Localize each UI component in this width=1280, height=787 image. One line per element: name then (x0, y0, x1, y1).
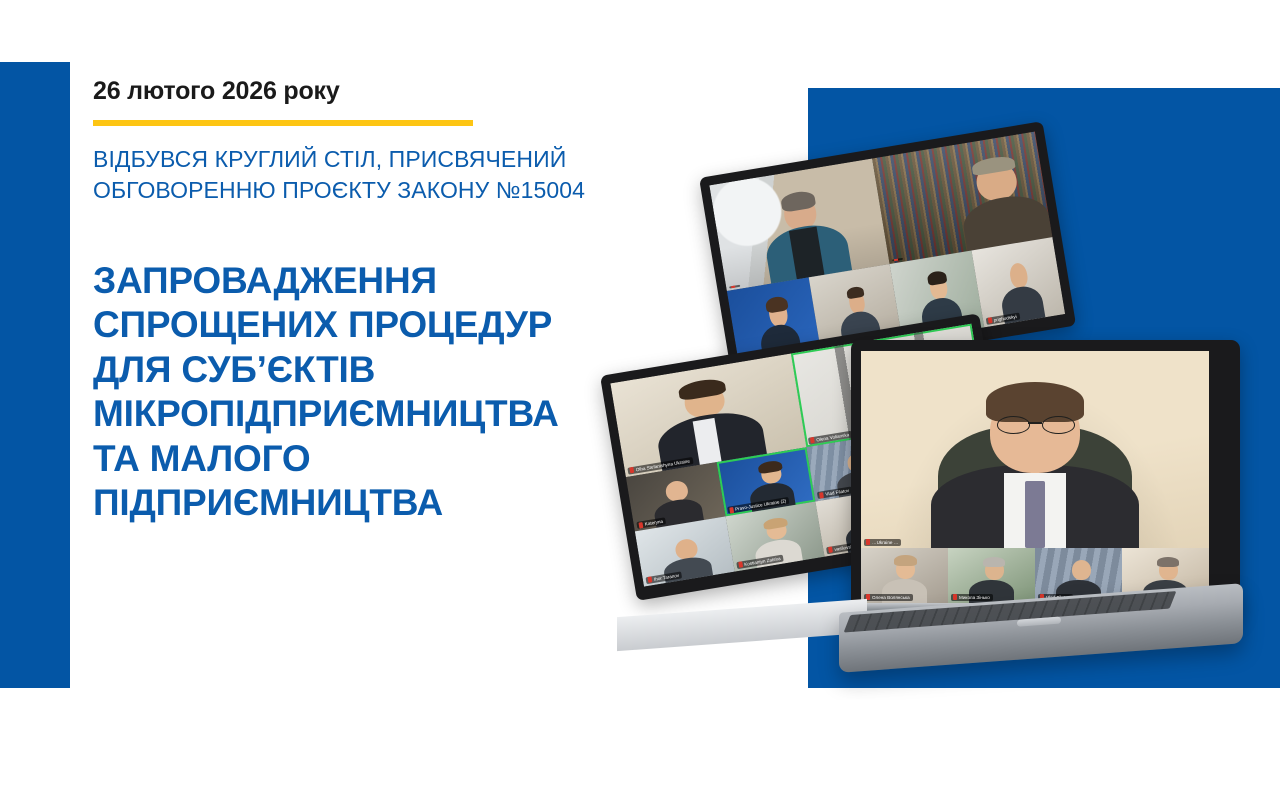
event-date: 26 лютого 2026 року (93, 78, 693, 106)
laptop-main: …Ukraine … Олена Волянська (851, 340, 1240, 618)
participant-name: Ihor Taranov (645, 571, 682, 584)
footer-logo-bar: Національна Асоціація Адвокатів Кримінал… (0, 700, 1280, 787)
video-tile: prighodskyi (971, 237, 1065, 327)
laptop-main-bezel: …Ukraine … Олена Волянська (851, 340, 1240, 618)
participant-name: …Ukraine … (864, 539, 901, 546)
video-tile: Олена Волянська (861, 548, 948, 603)
video-call-main: …Ukraine … Олена Волянська (861, 351, 1209, 603)
participant-name: prighodskyi (985, 313, 1020, 325)
video-tile: Микола Зінько (948, 548, 1035, 603)
laptop-base-shadow (617, 599, 867, 651)
laptop-collage: Pravo-Justice Ukraine (1) vasilovskyi (595, 160, 1280, 670)
participant-name: Микола Зінько (951, 594, 993, 601)
yellow-divider (93, 120, 473, 126)
banner-canvas: 26 лютого 2026 року ВІДБУВСЯ КРУГЛИЙ СТІ… (0, 0, 1280, 787)
left-blue-bar (0, 62, 70, 688)
video-tile-main-speaker: …Ukraine … (861, 351, 1209, 548)
participant-name: Олена Волянська (864, 594, 913, 601)
